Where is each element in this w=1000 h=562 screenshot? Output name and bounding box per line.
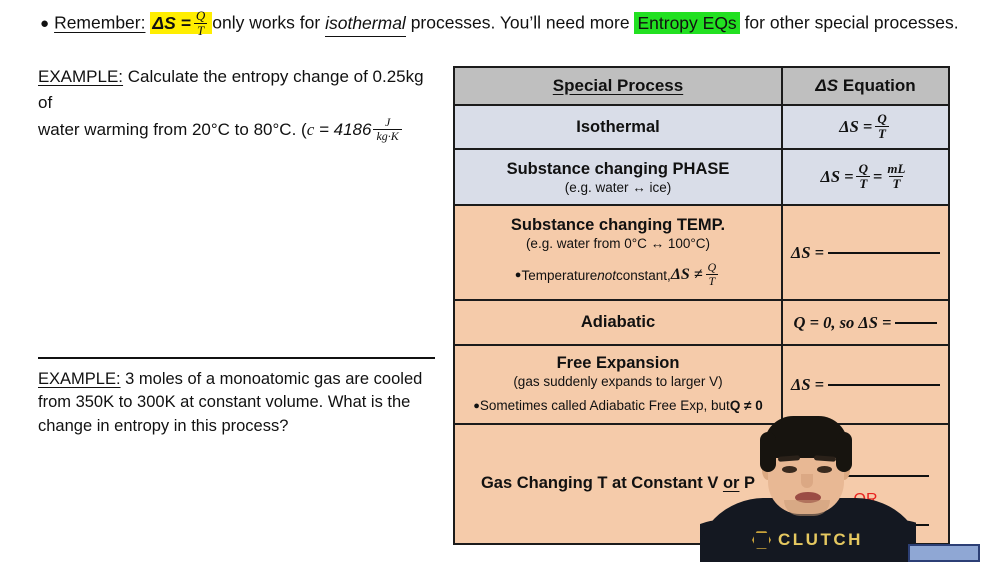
presenter-nose [801,474,813,488]
example-1-label: EXAMPLE: [38,67,123,86]
row-isothermal-name: Isothermal [576,118,659,137]
row-adiabatic-name: Adiabatic [581,313,655,332]
example-1-line2b: = 4186 [314,120,371,139]
header-equation-word: Equation [838,76,915,95]
table-row-temp: Substance changing TEMP. (e.g. water fro… [455,206,948,301]
note-fraction-q-t: QT [705,261,720,287]
header-label-process: Special Process [553,76,683,96]
text-mid: processes. You’ll need more [411,13,630,33]
row-free-expansion-note: ● Sometimes called Adiabatic Free Exp, b… [473,398,762,413]
slide-canvas: ●Remember: ΔS =QTonly works for isotherm… [0,0,1000,562]
shirt-logo: CLUTCH [752,530,863,550]
fraction-numerator: Q [193,9,208,22]
webcam-presenter-overlay: CLUTCH [700,416,916,562]
section-divider [38,357,435,359]
header-label-equation: ΔS Equation [815,76,915,96]
row-phase-eq-cell: ΔS =QT=mLT [783,150,948,204]
remember-label: Remember: [54,13,145,33]
row-isothermal-equation: ΔS =QT [839,113,891,141]
eq-fraction-num: Q [874,112,889,125]
table-header-row: Special Process ΔS Equation [455,68,948,106]
row-free-expansion-name: Free Expansion [557,354,680,373]
example-1-block: EXAMPLE: Calculate the entropy change of… [38,64,438,143]
note-fraction-num: Q [705,261,720,273]
note-italic-not: not [597,268,616,283]
row-free-expansion-eq-cell: ΔS = [783,346,948,423]
eq-fraction-q-t: QT [874,112,889,140]
header-delta-s: ΔS [815,76,838,95]
bullet-icon: ● [40,15,49,32]
delta-s-equals: ΔS = [152,13,191,33]
answer-blank-line[interactable] [828,252,940,254]
table-row-phase: Substance changing PHASE (e.g. water ↔ i… [455,150,948,206]
note-bullet-icon: ● [473,400,480,412]
row-phase-name: Substance changing PHASE [507,160,730,179]
note-bullet-icon: ● [515,269,522,281]
units-numerator: J [382,116,393,128]
row-phase-equation: ΔS =QT=mLT [821,163,911,191]
presenter-hair-side-left [760,432,776,472]
note-text-a: Temperature [521,268,597,283]
row-free-expansion-equation: ΔS = [791,375,940,395]
entropy-eqs-highlight: Entropy EQs [634,12,739,34]
eq-delta-s-prefix: ΔS = [821,167,854,187]
remember-note: ●Remember: ΔS =QTonly works for isotherm… [40,10,960,38]
header-cell-equation: ΔS Equation [783,68,948,104]
row-temp-equation: ΔS = [791,243,940,263]
presenter-eye-left [782,466,797,473]
row-gas-name-start: Gas Changing T at Constant V [481,474,723,492]
example-2-label: EXAMPLE: [38,370,121,388]
note-fraction-den: T [706,274,719,287]
presenter-hair-side-right [836,432,852,472]
example-2-line2: from 350K to 300K at constant volume. Wh… [38,393,410,411]
eq-delta-s-prefix: ΔS = [839,117,872,137]
isothermal-word: isothermal [325,13,406,37]
note-text-a: Sometimes called Adiabatic Free Exp, but [480,398,730,413]
isothermal-formula-highlight: ΔS =QT [150,12,212,34]
table-row-isothermal: Isothermal ΔS =QT [455,106,948,150]
shirt-logo-text: CLUTCH [778,530,863,550]
row-adiabatic-name-cell: Adiabatic [455,301,783,344]
row-temp-eq-cell: ΔS = [783,206,948,299]
example-1-line2a: water warming from 20°C to 80°C. ( [38,120,307,139]
row-free-expansion-sub: (gas suddenly expands to larger V) [513,374,722,389]
eq-fraction2-num: mL [884,162,908,175]
eq-delta-s-prefix: ΔS = [791,375,824,395]
row-phase-name-cell: Substance changing PHASE (e.g. water ↔ i… [455,150,783,204]
q-over-t-fraction: QT [193,9,208,37]
text-end: for other special processes. [745,13,959,33]
row-isothermal-eq-cell: ΔS =QT [783,106,948,148]
eq-fraction2-den: T [889,176,903,190]
answer-blank-line[interactable] [828,384,940,386]
row-free-expansion-name-cell: Free Expansion (gas suddenly expands to … [455,346,783,423]
eq-q-zero-text: Q = 0, so ΔS = [794,313,892,333]
eq-fraction-den: T [875,126,889,140]
example-2-line1: 3 moles of a monoatomic gas are cooled [121,370,423,388]
note-delta-s-neq: ΔS ≠ [671,266,703,284]
eq-fraction-q-t: QT [856,162,871,190]
header-cell-process: Special Process [455,68,783,104]
units-fraction: Jkg·K [373,116,401,142]
table-row-adiabatic: Adiabatic Q = 0, so ΔS = [455,301,948,346]
eq-fraction-den: T [856,176,870,190]
eq-fraction-ml-t: mLT [884,162,908,190]
table-row-free-expansion: Free Expansion (gas suddenly expands to … [455,346,948,425]
fraction-denominator: T [194,23,207,37]
row-temp-note: ● Temperature not constant, ΔS ≠QT [515,262,721,288]
row-temp-sub: (e.g. water from 0°C ↔ 100°C) [526,236,710,251]
example-2-block: EXAMPLE: 3 moles of a monoatomic gas are… [38,368,438,438]
hexagon-icon [752,531,771,550]
note-q-neq-zero: Q ≠ 0 [730,398,763,413]
row-adiabatic-equation: Q = 0, so ΔS = [794,313,938,333]
eq-delta-s-prefix: ΔS = [791,243,824,263]
row-phase-sub: (e.g. water ↔ ice) [565,180,672,195]
row-temp-name: Substance changing TEMP. [511,216,725,235]
answer-blank-line[interactable] [895,322,937,324]
text-after-formula: only works for [212,13,320,33]
bottom-right-blue-box[interactable] [908,544,980,562]
units-denominator: kg·K [373,129,401,142]
eq-middle-equals: = [873,167,882,187]
row-adiabatic-eq-cell: Q = 0, so ΔS = [783,301,948,344]
presenter-eye-right [817,466,832,473]
example-2-line3: change in entropy in this process? [38,417,288,435]
row-temp-name-cell: Substance changing TEMP. (e.g. water fro… [455,206,783,299]
eq-fraction-num: Q [856,162,871,175]
note-text-b: constant, [616,268,671,283]
row-isothermal-name-cell: Isothermal [455,106,783,148]
